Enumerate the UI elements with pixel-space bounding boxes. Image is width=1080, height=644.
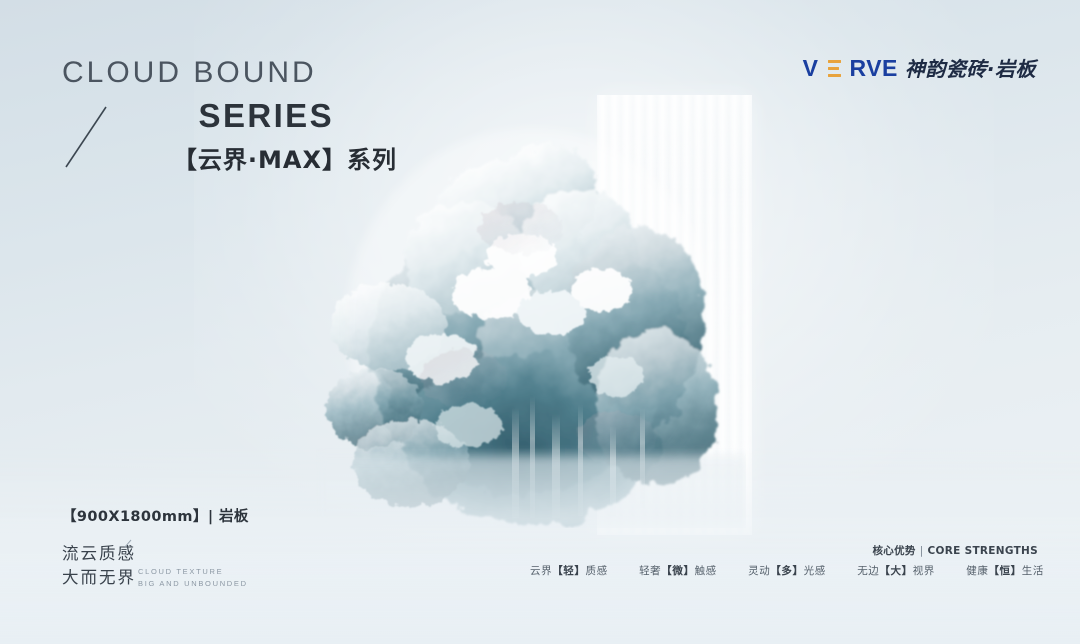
core-item-0-suffix: 质感	[586, 565, 608, 577]
core-item-3: 无边【大】视界	[857, 563, 935, 578]
logo-letter-e-icon	[828, 60, 841, 77]
core-item-1-suffix: 触感	[695, 565, 717, 577]
core-item-2-suffix: 光感	[804, 565, 826, 577]
slogan-en-line2: BIG AND UNBOUNDED	[138, 578, 248, 589]
slogan-cn-line1: 流云质感	[62, 542, 249, 566]
core-item-0-bracket: 【轻】	[552, 565, 585, 577]
core-item-4-bracket: 【恒】	[988, 565, 1021, 577]
core-item-3-prefix: 无边	[857, 565, 879, 577]
logo-letters-rve: RVE	[850, 57, 898, 80]
core-item-1-prefix: 轻奢	[639, 565, 661, 577]
core-heading-en: CORE STRENGTHS	[928, 545, 1038, 557]
logo-letter-v: V	[803, 57, 819, 80]
headline-series: SERIES	[62, 99, 402, 132]
core-item-4-prefix: 健康	[966, 565, 988, 577]
core-item-1-bracket: 【微】	[661, 565, 694, 577]
core-item-1: 轻奢【微】触感	[639, 563, 717, 578]
core-item-2-bracket: 【多】	[770, 565, 803, 577]
slogan-group: 流云质感 大而无界 CLOUD TEXTURE BIG AND UNBOUNDE…	[62, 542, 249, 590]
slogan-en-line1: CLOUD TEXTURE	[138, 566, 248, 577]
headline-chinese: 【云界·MAX】系列	[62, 147, 402, 173]
core-item-2-prefix: 灵动	[748, 565, 770, 577]
core-heading-cn: 核心优势	[872, 545, 915, 557]
headline-block: CLOUD BOUND SERIES 【云界·MAX】系列	[62, 58, 402, 173]
headline-cloud-bound: CLOUD BOUND	[62, 58, 402, 88]
tick-mark-icon	[124, 539, 133, 548]
product-size: 【900X1800mm】| 岩板	[62, 505, 249, 526]
core-item-4-suffix: 生活	[1022, 565, 1044, 577]
core-heading-separator: |	[920, 545, 924, 557]
core-strengths-list: 云界【轻】质感 轻奢【微】触感 灵动【多】光感 无边【大】视界 健康【恒】生活	[530, 563, 1044, 578]
slogan-en: CLOUD TEXTURE BIG AND UNBOUNDED	[138, 566, 248, 589]
product-spec-block: 【900X1800mm】| 岩板 流云质感 大而无界 CLOUD TEXTURE…	[62, 505, 249, 590]
core-item-4: 健康【恒】生活	[966, 563, 1044, 578]
poster-canvas: CLOUD BOUND SERIES 【云界·MAX】系列 V RVE 神韵瓷砖…	[0, 0, 1080, 644]
core-item-3-bracket: 【大】	[879, 565, 912, 577]
brand-logo: V RVE 神韵瓷砖·岩板	[803, 57, 1036, 80]
core-item-3-suffix: 视界	[913, 565, 935, 577]
core-item-2: 灵动【多】光感	[748, 563, 826, 578]
core-item-0: 云界【轻】质感	[530, 563, 608, 578]
core-strengths-heading: 核心优势|CORE STRENGTHS	[872, 543, 1038, 558]
logo-chinese-name: 神韵瓷砖·岩板	[905, 59, 1036, 79]
core-item-0-prefix: 云界	[530, 565, 552, 577]
